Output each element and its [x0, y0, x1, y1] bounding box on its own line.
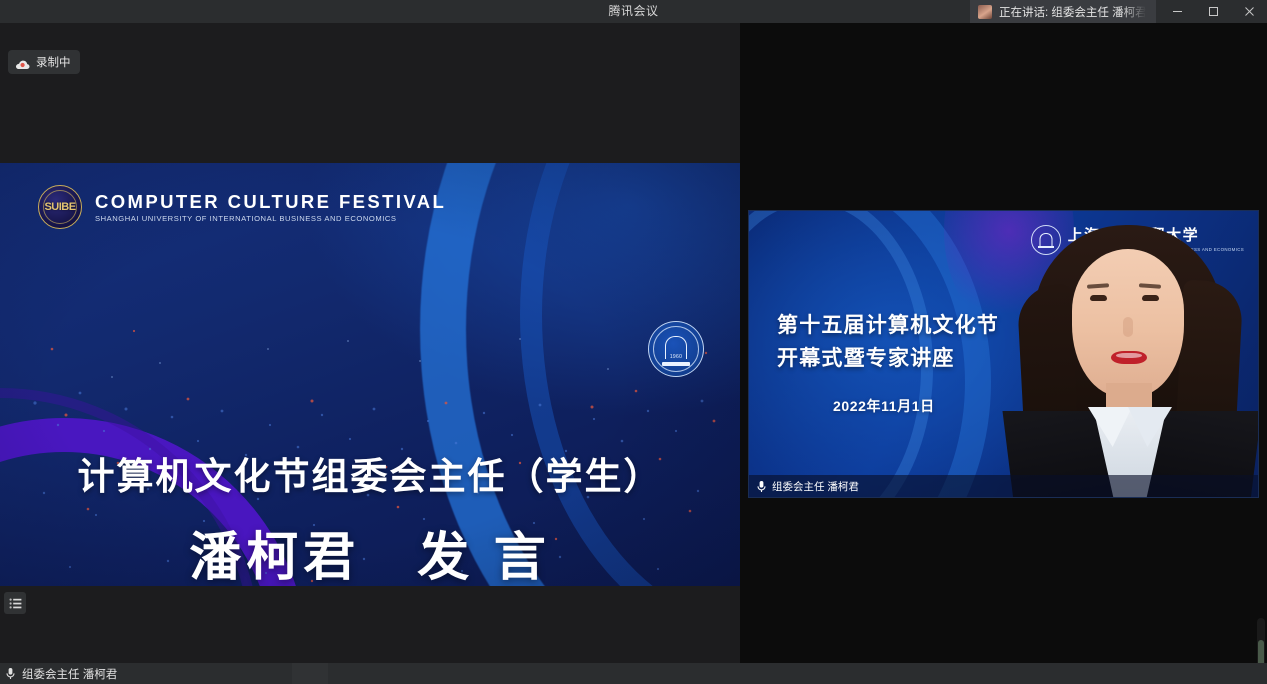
participant-person-image: [1002, 215, 1258, 497]
participant-video-tile[interactable]: 上海对外经贸大学 SHANGHAI UNIVERSITY OF INTERNAT…: [748, 210, 1259, 498]
festival-title: COMPUTER CULTURE FESTIVAL: [95, 191, 446, 212]
maximize-icon[interactable]: [1195, 0, 1231, 23]
festival-subtitle: SHANGHAI UNIVERSITY OF INTERNATIONAL BUS…: [95, 215, 446, 224]
video-name-bar: 组委会主任 潘柯君: [749, 475, 1258, 497]
status-bar-highlight: [292, 663, 328, 684]
university-seal-year: 1960: [670, 354, 682, 360]
tencent-meeting-window: 腾讯会议 正在讲话: 组委会主任 潘柯君;: [0, 0, 1267, 684]
status-bar: 组委会主任 潘柯君: [0, 663, 1267, 684]
microphone-icon: [5, 667, 16, 680]
suibe-seal-icon: SUIBE: [38, 185, 82, 229]
window-controls: [1159, 0, 1267, 23]
video-title-line1: 第十五届计算机文化节: [777, 309, 999, 339]
speaking-fade: [1122, 0, 1156, 23]
slide-header: SUIBE COMPUTER CULTURE FESTIVAL SHANGHAI…: [38, 185, 446, 229]
suibe-seal-word: SUIBE: [39, 201, 81, 213]
minimize-icon[interactable]: [1159, 0, 1195, 23]
video-title-line2: 开幕式暨专家讲座: [777, 342, 955, 372]
list-icon[interactable]: [4, 592, 26, 614]
microphone-icon: [756, 480, 767, 493]
university-seal-icon: 1960: [648, 321, 704, 377]
presentation-slide: SUIBE COMPUTER CULTURE FESTIVAL SHANGHAI…: [0, 163, 740, 586]
cloud-recording-icon: [15, 57, 30, 68]
shared-screen-region: 录制中: [0, 23, 740, 663]
slide-speaker-name-text: 潘柯君 发 言: [0, 515, 740, 586]
video-participant-name: 组委会主任 潘柯君: [772, 479, 859, 494]
close-icon[interactable]: [1231, 0, 1267, 23]
title-bar: 腾讯会议 正在讲话: 组委会主任 潘柯君;: [0, 0, 1267, 24]
video-date: 2022年11月1日: [833, 396, 935, 416]
status-speaker[interactable]: 组委会主任 潘柯君: [5, 663, 117, 684]
recording-badge[interactable]: 录制中: [8, 50, 80, 74]
status-speaker-name: 组委会主任 潘柯君: [22, 666, 117, 682]
speaking-indicator[interactable]: 正在讲话: 组委会主任 潘柯君;: [970, 0, 1156, 23]
recording-label: 录制中: [36, 54, 71, 70]
participant-video-panel: 上海对外经贸大学 SHANGHAI UNIVERSITY OF INTERNAT…: [740, 23, 1267, 663]
festival-titles: COMPUTER CULTURE FESTIVAL SHANGHAI UNIVE…: [95, 191, 446, 224]
slide-subtitle-text: 计算机文化节组委会主任（学生）: [0, 446, 740, 500]
speaker-avatar: [978, 5, 992, 19]
